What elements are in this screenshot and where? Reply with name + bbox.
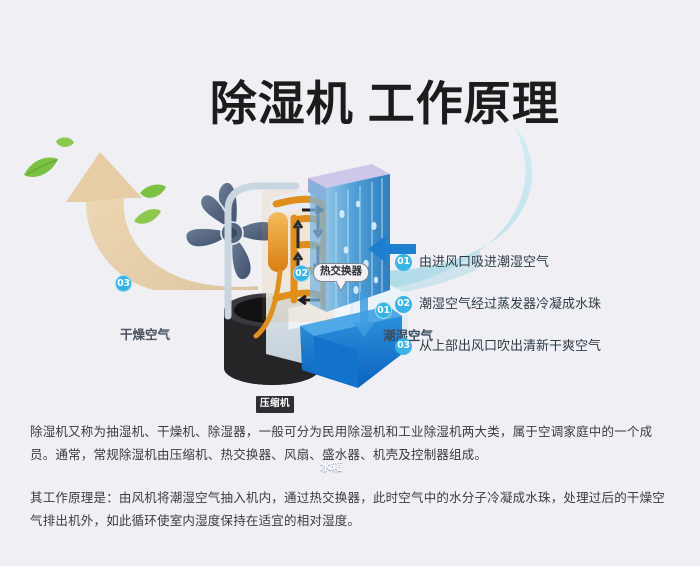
step-text: 由进风口吸进潮湿空气: [419, 256, 549, 269]
illustration-badge-02: 02: [293, 265, 310, 282]
list-item: 02 潮湿空气经过蒸发器冷凝成水珠: [395, 295, 685, 313]
step-number-badge: 03: [395, 338, 412, 355]
leaf-icon: [18, 135, 88, 195]
illustration-badge-03: 03: [115, 275, 132, 292]
list-item: 03 从上部出风口吹出清新干爽空气: [395, 337, 685, 355]
body-copy: 除湿机又称为抽湿机、干燥机、除湿器，一般可分为民用除湿机和工业除湿机两大类，属于…: [30, 420, 670, 532]
step-number-badge: 01: [395, 254, 412, 271]
illustration-badge-01: 01: [375, 302, 392, 319]
callout-tail-icon: [336, 281, 346, 292]
compressor-label: 压缩机: [256, 396, 294, 413]
infographic-page: 除湿机工作原理: [0, 0, 700, 566]
dry-air-label: 干燥空气: [120, 329, 170, 342]
paragraph-definition: 除湿机又称为抽湿机、干燥机、除湿器，一般可分为民用除湿机和工业除湿机两大类，属于…: [30, 420, 670, 466]
paragraph-principle: 其工作原理是：由风机将潮湿空气抽入机内，通过热交换器，此时空气中的水分子冷凝成水…: [30, 486, 670, 532]
steps-list: 01 由进风口吸进潮湿空气 02 潮湿空气经过蒸发器冷凝成水珠 03 从上部出风…: [395, 253, 685, 379]
step-text: 从上部出风口吹出清新干爽空气: [419, 340, 601, 353]
step-number-badge: 02: [395, 296, 412, 313]
heat-exchanger-callout-label: 热交换器: [320, 265, 362, 277]
list-item: 01 由进风口吸进潮湿空气: [395, 253, 685, 271]
heat-exchanger-callout: 热交换器: [313, 263, 369, 282]
step-text: 潮湿空气经过蒸发器冷凝成水珠: [419, 298, 601, 311]
